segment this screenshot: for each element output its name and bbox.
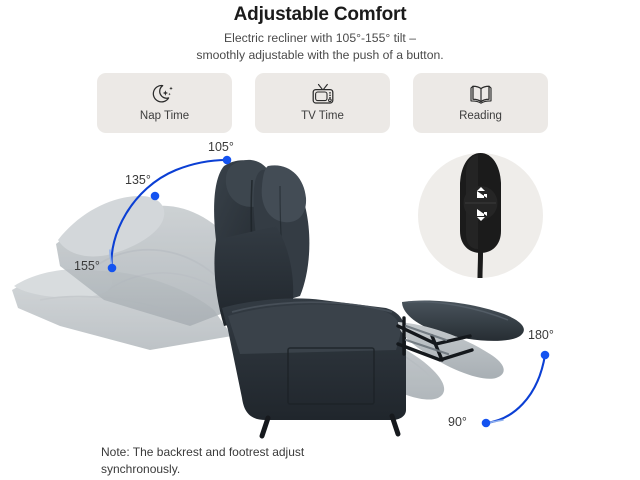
open-book-icon [468, 83, 494, 107]
note-text: Note: The backrest and footrest adjust s… [101, 444, 391, 478]
note-line-1: Note: The backrest and footrest adjust [101, 444, 391, 461]
angle-label-180: 180° [528, 328, 554, 342]
angle-label-90: 90° [448, 415, 467, 429]
header: Adjustable Comfort Electric recliner wit… [0, 4, 640, 64]
feature-card-reading[interactable]: Reading [413, 73, 548, 133]
feature-card-tv-time[interactable]: TV Time [255, 73, 390, 133]
angle-marker-90 [482, 419, 491, 428]
angle-label-105: 105° [208, 140, 234, 154]
feature-card-label: TV Time [301, 109, 344, 123]
feature-card-nap-time[interactable]: Nap Time [97, 73, 232, 133]
retro-tv-icon [310, 83, 336, 107]
angle-marker-180 [541, 351, 550, 360]
moon-stars-icon [152, 83, 178, 107]
angle-marker-105 [223, 156, 232, 165]
feature-card-list: Nap Time TV Time Reading [97, 73, 548, 133]
feature-card-label: Reading [459, 109, 502, 123]
subtitle-line-2: smoothly adjustable with the push of a b… [0, 47, 640, 64]
angle-label-155: 155° [74, 259, 100, 273]
subtitle-line-1: Electric recliner with 105°-155° tilt – [0, 30, 640, 47]
angle-marker-155 [108, 264, 117, 273]
page-title: Adjustable Comfort [0, 4, 640, 26]
angle-marker-135 [151, 192, 160, 201]
feature-card-label: Nap Time [140, 109, 189, 123]
recliner-seat-body [222, 298, 406, 420]
angle-label-135: 135° [125, 173, 151, 187]
note-line-2: synchronously. [101, 461, 391, 478]
recliner-illustration [0, 140, 640, 440]
remote-control-inset [418, 153, 543, 278]
